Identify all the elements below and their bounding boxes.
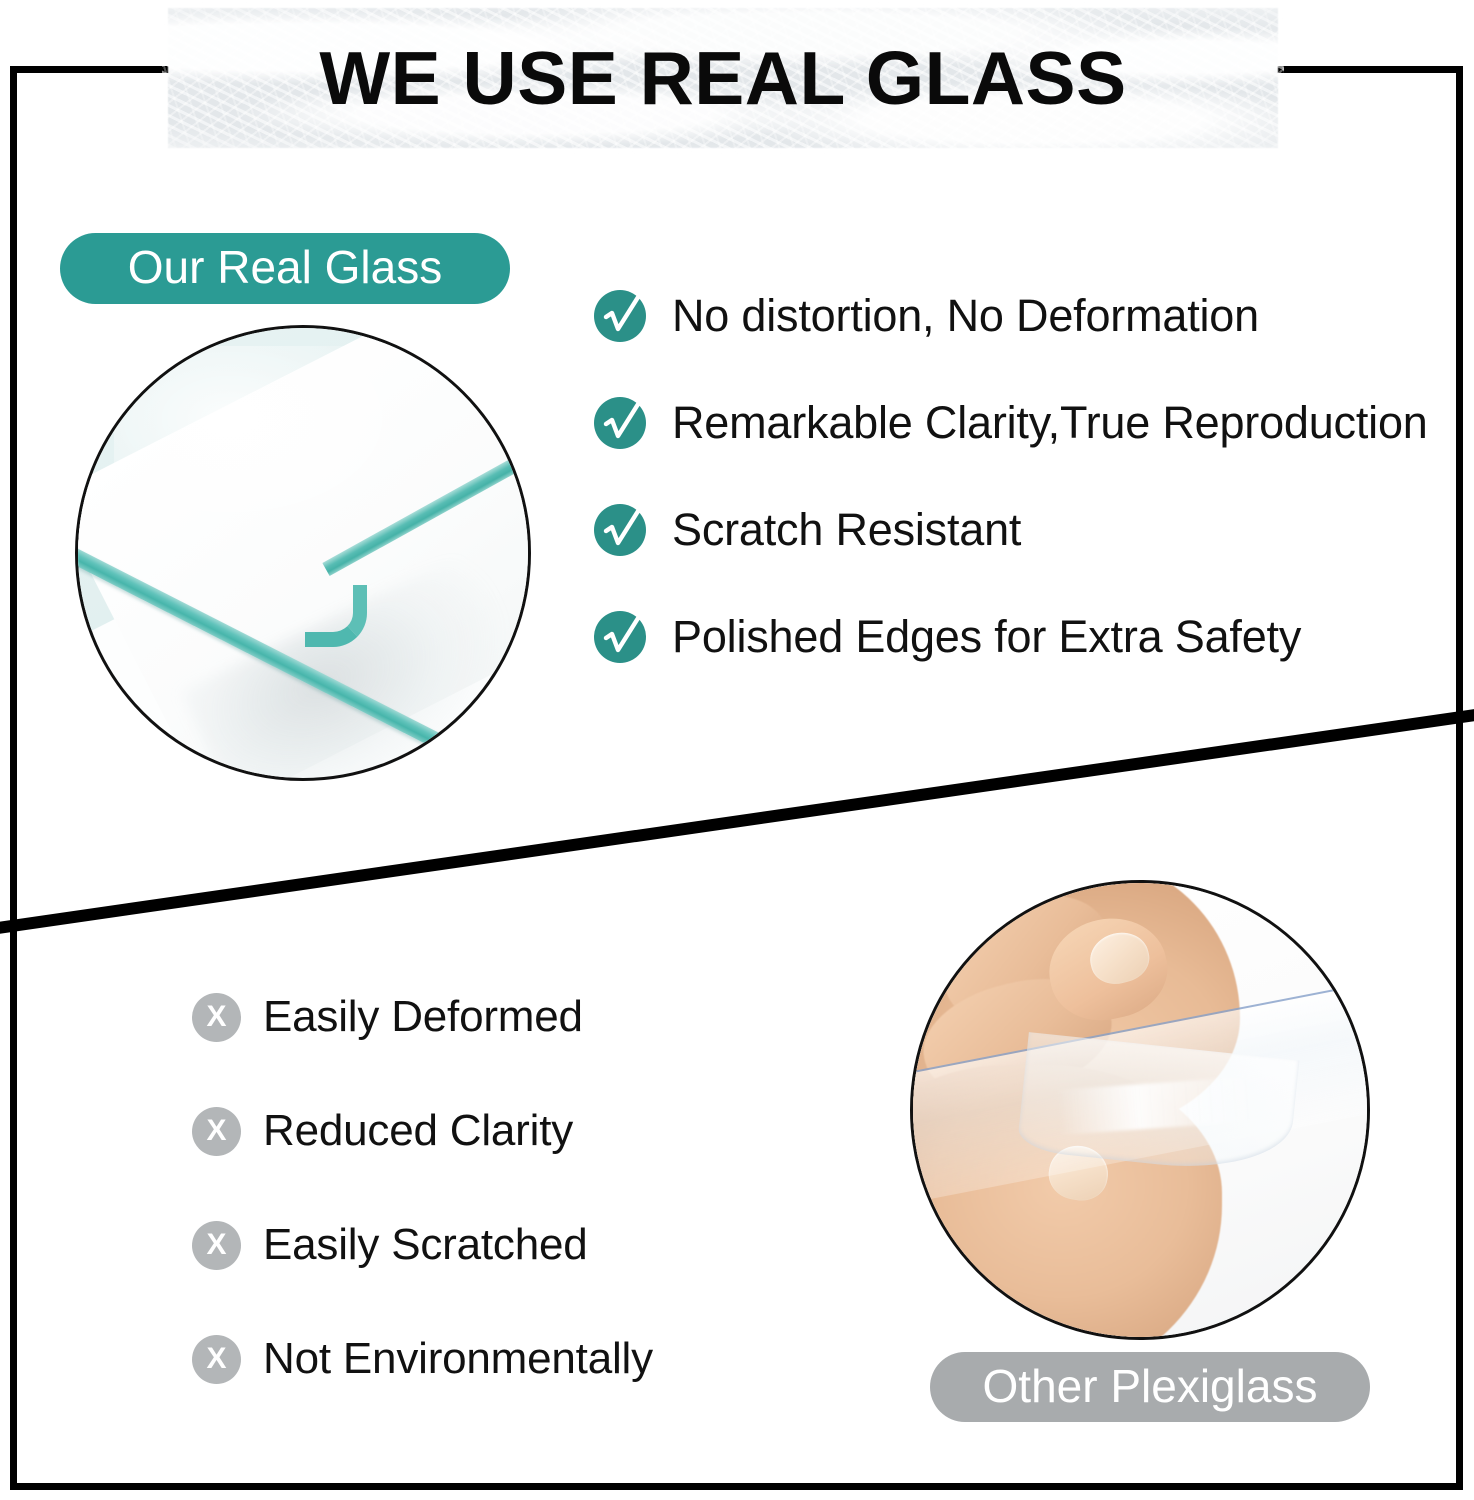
real-glass-feature-list: No distortion, No Deformation Remarkable… xyxy=(592,288,1428,665)
feature-row: Scratch Resistant xyxy=(592,502,1428,558)
drawback-label: Reduced Clarity xyxy=(263,1106,573,1156)
check-icon xyxy=(592,288,648,344)
drawback-label: Not Environmentally xyxy=(263,1334,653,1384)
feature-label: Remarkable Clarity,True Reproduction xyxy=(672,397,1428,449)
plexiglass-drawback-list: X Easily Deformed X Reduced Clarity X Ea… xyxy=(192,992,653,1384)
x-icon: X xyxy=(192,1335,241,1384)
feature-row: Polished Edges for Extra Safety xyxy=(592,609,1428,665)
x-icon: X xyxy=(192,1107,241,1156)
plexiglass-badge-label: Other Plexiglass xyxy=(983,1359,1318,1413)
feature-row: Remarkable Clarity,True Reproduction xyxy=(592,395,1428,451)
drawback-row: X Easily Scratched xyxy=(192,1220,653,1270)
feature-label: Polished Edges for Extra Safety xyxy=(672,611,1301,663)
drawback-label: Easily Scratched xyxy=(263,1220,588,1270)
product-comparison-poster: WE USE REAL GLASS Our Real Glass No dist… xyxy=(0,0,1474,1500)
real-glass-photo xyxy=(75,325,531,781)
drawback-row: X Not Environmentally xyxy=(192,1334,653,1384)
drawback-row: X Reduced Clarity xyxy=(192,1106,653,1156)
glass-sheen xyxy=(114,346,447,553)
x-icon: X xyxy=(192,1221,241,1270)
x-icon: X xyxy=(192,993,241,1042)
page-title: WE USE REAL GLASS xyxy=(168,8,1278,148)
check-icon xyxy=(592,609,648,665)
real-glass-badge-label: Our Real Glass xyxy=(128,240,442,294)
drawback-label: Easily Deformed xyxy=(263,992,583,1042)
plexiglass-badge: Other Plexiglass xyxy=(930,1352,1370,1422)
check-icon xyxy=(592,395,648,451)
drawback-row: X Easily Deformed xyxy=(192,992,653,1042)
real-glass-badge: Our Real Glass xyxy=(60,233,510,304)
check-icon xyxy=(592,502,648,558)
feature-row: No distortion, No Deformation xyxy=(592,288,1428,344)
feature-label: Scratch Resistant xyxy=(672,504,1021,556)
plexiglass-photo xyxy=(910,880,1370,1340)
feature-label: No distortion, No Deformation xyxy=(672,290,1259,342)
